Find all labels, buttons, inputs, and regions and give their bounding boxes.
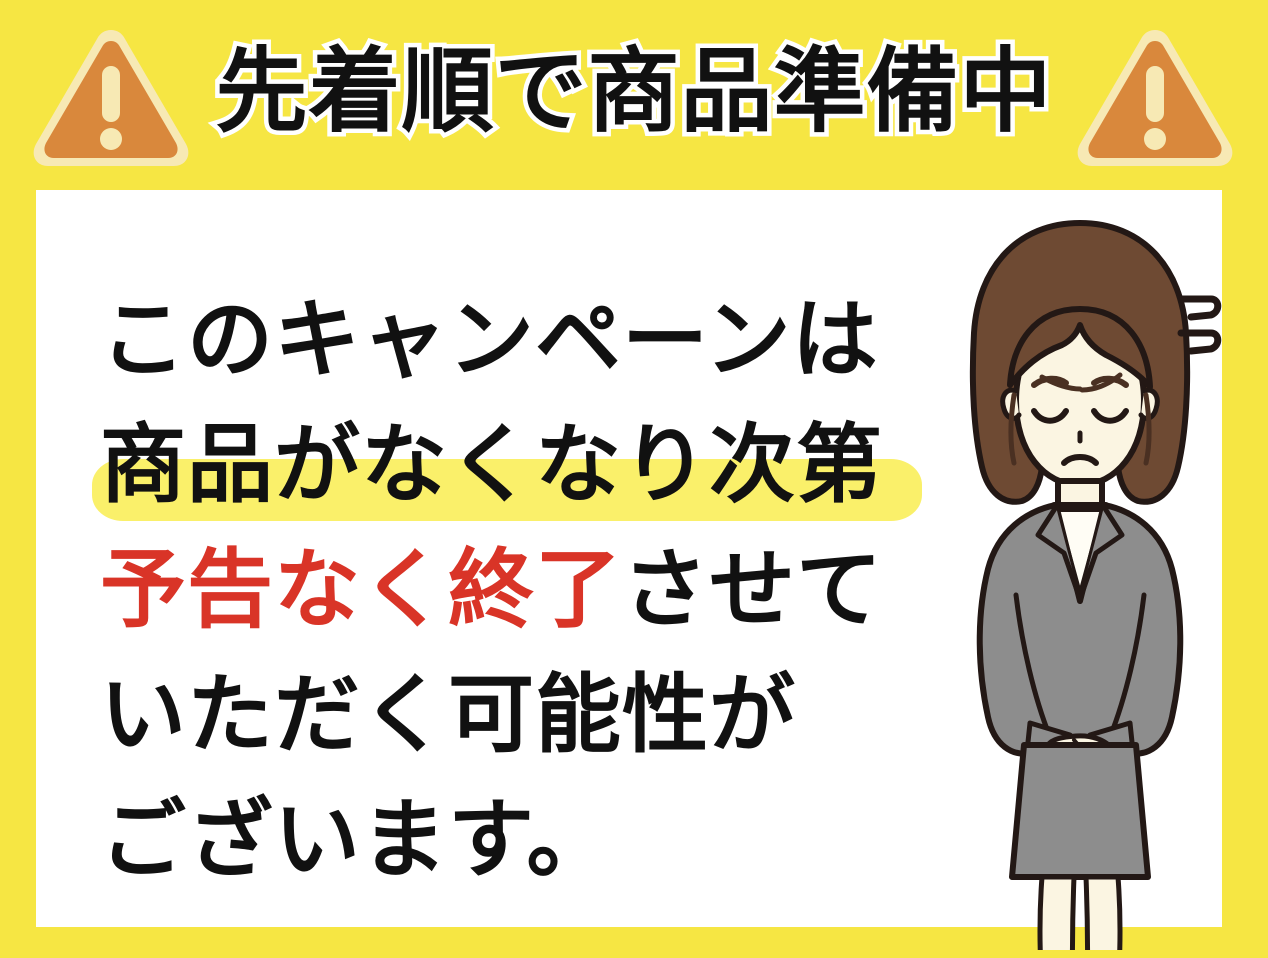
notice-line-1-text: このキャンペーンは <box>100 290 879 390</box>
poster-root: 先着順で商品準備中 このキャンペーンは 商品がなくなり次第 予告なく終了させて … <box>0 0 1268 958</box>
notice-line-3: 予告なく終了させて <box>100 528 940 653</box>
notice-line-4-text: いただく可能性が <box>100 665 796 765</box>
notice-line-3-text: させて <box>622 540 883 640</box>
notice-line-1: このキャンペーンは <box>100 278 940 403</box>
notice-line-4: いただく可能性が <box>100 653 940 778</box>
header-band: 先着順で商品準備中 <box>0 0 1268 186</box>
notice-line-5-text: ございます。 <box>100 790 613 890</box>
notice-line-5: ございます。 <box>100 778 940 903</box>
notice-line-3-emphasis: 予告なく終了 <box>100 540 622 640</box>
sweat-drop-marks <box>1177 293 1229 355</box>
notice-line-2-text: 商品がなくなり次第 <box>100 415 883 515</box>
notice-line-2: 商品がなくなり次第 <box>100 403 940 528</box>
warning-triangle-icon <box>1072 22 1238 172</box>
notice-text-block: このキャンペーンは 商品がなくなり次第 予告なく終了させて いただく可能性が ご… <box>100 278 940 903</box>
